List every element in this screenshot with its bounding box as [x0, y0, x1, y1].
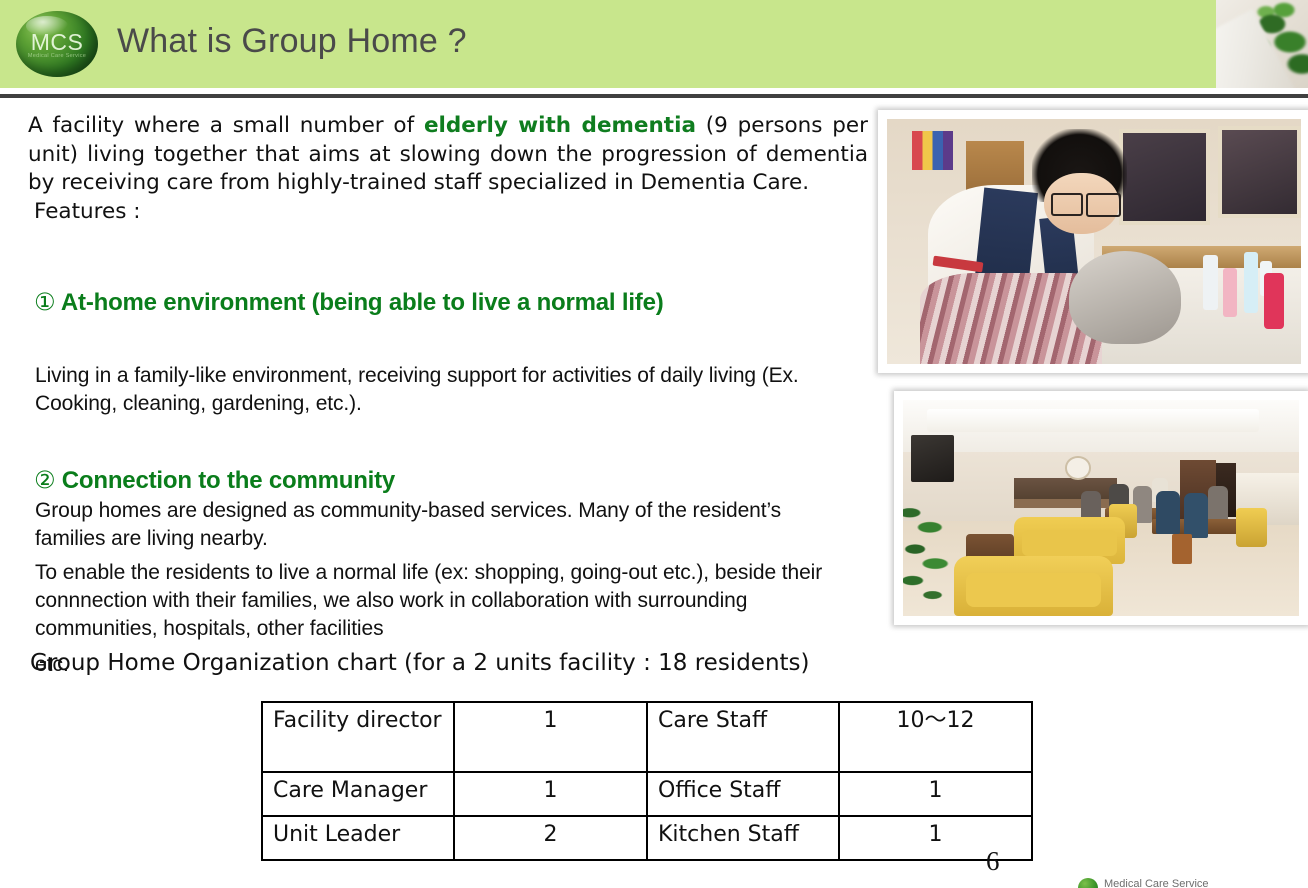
lead-paragraph: A facility where a small number of elder… [28, 112, 868, 198]
feature-2-heading-text: Connection to the community [62, 467, 395, 494]
count-cell: 2 [454, 816, 647, 860]
footer-logo-text: Medical Care Service [1104, 878, 1209, 888]
features-label: Features : [28, 198, 868, 226]
header-banner: MCS Medical Care Service What is Group H… [0, 0, 1308, 88]
role2-cell: Kitchen Staff [647, 816, 839, 860]
role2-cell: Care Staff [647, 702, 839, 772]
feature-2-body: Group homes are designed as community-ba… [35, 497, 825, 553]
photo-inner [903, 400, 1299, 616]
content-text-column: A facility where a small number of elder… [28, 112, 868, 226]
orgchart-caption: Group Home Organization chart (for a 2 u… [30, 648, 810, 678]
count2-cell: 10～12 [839, 702, 1032, 772]
feature-1-number: ① [34, 288, 55, 316]
orgchart-table: Facility director 1 Care Staff 10～12 Car… [261, 701, 1033, 861]
caregiver-assisting-elderly-photo [878, 110, 1308, 373]
feature-2-body-second: To enable the residents to live a normal… [35, 559, 865, 643]
count2-cell: 1 [839, 772, 1032, 816]
lead-highlight: elderly with dementia [424, 113, 696, 138]
role2-cell: Office Staff [647, 772, 839, 816]
slide: MCS Medical Care Service What is Group H… [0, 0, 1308, 888]
count-cell: 1 [454, 772, 647, 816]
header-greens-photo [1216, 0, 1308, 88]
table-row: Facility director 1 Care Staff 10～12 [262, 702, 1032, 772]
feature-1-body: Living in a family-like environment, rec… [35, 362, 845, 418]
role-cell: Unit Leader [262, 816, 454, 860]
feature-1-heading: ① At-home environment (being able to liv… [34, 282, 834, 323]
count2-cell: 1 [839, 816, 1032, 860]
common-lounge-dining-room-photo [894, 391, 1308, 625]
mcs-logo: MCS Medical Care Service [16, 11, 98, 77]
lead-text-before: A facility where a small number of [28, 113, 424, 138]
feature-2-number: ② [34, 466, 55, 494]
page-number: 6 [986, 846, 1000, 877]
footer-logo: Medical Care Service [1078, 878, 1298, 888]
feature-2-heading: ② Connection to the community [34, 460, 834, 501]
footer-logo-dot-icon [1078, 878, 1098, 888]
photo-inner [887, 119, 1301, 364]
table-row: Care Manager 1 Office Staff 1 [262, 772, 1032, 816]
count-cell: 1 [454, 702, 647, 772]
page-title: What is Group Home ? [117, 22, 467, 61]
logo-subtitle-text: Medical Care Service [16, 54, 98, 60]
photo-1-scene [887, 119, 1301, 364]
header-divider-rule [0, 94, 1308, 98]
feature-1-heading-text: At-home environment (being able to live … [61, 289, 664, 316]
photo-2-scene [903, 400, 1299, 616]
table-row: Unit Leader 2 Kitchen Staff 1 [262, 816, 1032, 860]
role-cell: Care Manager [262, 772, 454, 816]
role-cell: Facility director [262, 702, 454, 772]
logo-mark-text: MCS [16, 31, 98, 54]
